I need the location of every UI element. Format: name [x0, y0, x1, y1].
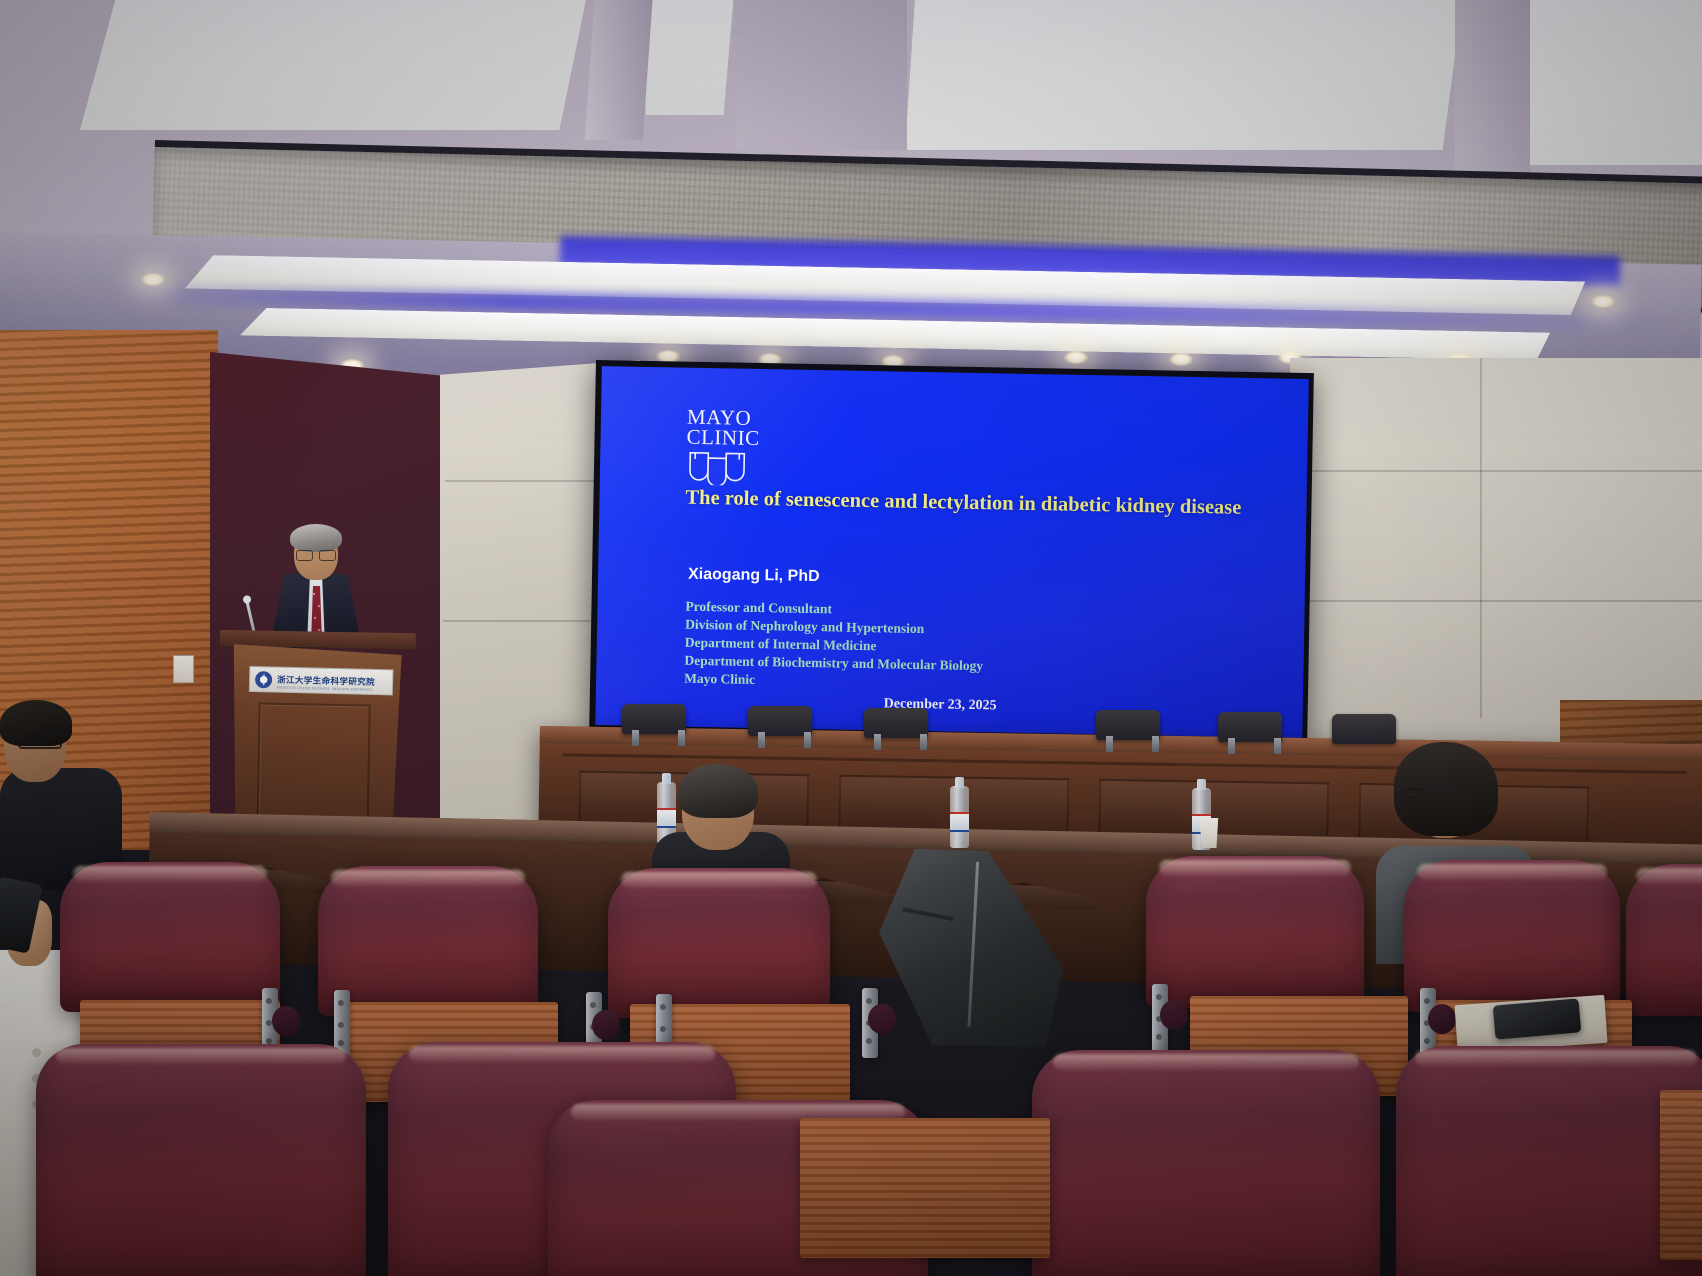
projection-screen-bezel: MAYO CLINIC The role of senescence and l…: [589, 360, 1314, 743]
stage-chair-leg: [1106, 736, 1113, 752]
stage-chair-leg: [1228, 738, 1235, 754]
paper-cup: [1198, 818, 1220, 848]
seat-highlight: [331, 870, 525, 886]
seat-backrest: [1146, 856, 1364, 1008]
downlight-icon: [1590, 294, 1616, 309]
mayo-clinic-logo: MAYO CLINIC: [686, 408, 760, 489]
seat-backrest: [60, 862, 280, 1012]
water-bottle: [950, 786, 969, 848]
seat-pivot-disc: [868, 1004, 896, 1034]
seat-highlight: [73, 866, 267, 882]
speaker-at-podium: [268, 528, 364, 646]
stage-chair-leg: [874, 734, 881, 750]
stage-chair-leg: [804, 732, 811, 748]
downlight-icon: [1063, 350, 1089, 365]
person-hair: [678, 764, 758, 818]
wall-seam: [1290, 600, 1702, 602]
stage-chair-leg: [1152, 736, 1159, 752]
auditorium-seat[interactable]: [1146, 856, 1364, 1008]
lectern-inset-molding: [257, 703, 371, 831]
ceiling-beam: [735, 0, 907, 150]
seat-backrest: [1396, 1046, 1702, 1276]
skylight-panel: [80, 0, 590, 130]
lectern-plaque: 浙江大学生命科学研究院 INSTITUTE OF LIFE SCIENCES, …: [249, 666, 394, 696]
seat-highlight: [1053, 1054, 1359, 1070]
ceiling-beam: [585, 0, 653, 140]
seat-highlight: [56, 1048, 346, 1064]
auditorium-seat[interactable]: [1626, 864, 1702, 1016]
seat-backrest: [1032, 1050, 1380, 1276]
seat-highlight: [1417, 864, 1607, 880]
seat-highlight: [409, 1046, 715, 1062]
bottle-label: [950, 812, 969, 832]
seat-backrest: [318, 866, 538, 1016]
slide-title: The role of senescence and lectylation i…: [685, 486, 1285, 522]
mayo-logo-line2: CLINIC: [686, 428, 759, 449]
seat-backrest: [36, 1044, 366, 1276]
slide-author: Xiaogang Li, PhD: [688, 566, 820, 586]
wall-seam: [1290, 470, 1702, 472]
seat-backrest: [1626, 864, 1702, 1016]
downlight-icon: [1168, 352, 1194, 367]
auditorium-seat[interactable]: [36, 1044, 366, 1276]
seat-highlight: [1636, 868, 1702, 884]
seat-highlight: [621, 872, 816, 888]
auditorium-seat[interactable]: [318, 866, 538, 1016]
auditorium-seat[interactable]: [60, 862, 280, 1012]
speaker-hair: [290, 524, 342, 552]
seat-pivot-disc: [1428, 1004, 1456, 1034]
stage-chair: [1332, 714, 1396, 744]
seat-backrest: [1404, 860, 1620, 1012]
stage-chair-leg: [758, 732, 765, 748]
auditorium-seat[interactable]: [1032, 1050, 1380, 1276]
university-seal-icon: [255, 671, 272, 688]
auditorium-seat[interactable]: [608, 868, 830, 1018]
skylight-panel: [640, 0, 735, 115]
mayo-three-shields-icon: [686, 451, 760, 490]
eyeglasses-icon: [18, 738, 62, 749]
slide-affiliations: Professor and Consultant Division of Nep…: [684, 598, 984, 693]
jacket-zipper: [967, 862, 979, 1027]
stage-chair-leg: [920, 734, 927, 750]
stage-chair-leg: [678, 730, 685, 746]
seat-pivot-disc: [1160, 1000, 1188, 1030]
lecture-hall-photo: MAYO CLINIC The role of senescence and l…: [0, 0, 1702, 1276]
stage-chair-leg: [632, 730, 639, 746]
wall-seam: [1480, 358, 1482, 718]
eyeglasses-icon: [1402, 788, 1424, 798]
auditorium-seat[interactable]: [1396, 1046, 1702, 1276]
skylight-panel: [1520, 0, 1702, 165]
seat-pivot-disc: [592, 1010, 620, 1040]
seat-backrest: [608, 868, 830, 1018]
seat-writing-tablet: [1660, 1090, 1702, 1260]
seat-highlight: [1159, 860, 1351, 876]
person-left-glasses: [0, 706, 130, 886]
seat-writing-tablet: [800, 1118, 1050, 1258]
jacket-pocket: [902, 907, 954, 921]
downlight-icon: [140, 272, 166, 287]
auditorium-seat[interactable]: [1404, 860, 1620, 1012]
presentation-slide: MAYO CLINIC The role of senescence and l…: [595, 366, 1308, 738]
skylight-panel: [905, 0, 1465, 150]
stage-chair-leg: [1274, 738, 1281, 754]
ceiling-beam: [1455, 0, 1530, 175]
light-switch[interactable]: [173, 655, 194, 683]
seat-highlight: [1415, 1050, 1697, 1066]
eyeglasses-icon: [296, 550, 336, 559]
seat-pivot-disc: [272, 1006, 300, 1036]
